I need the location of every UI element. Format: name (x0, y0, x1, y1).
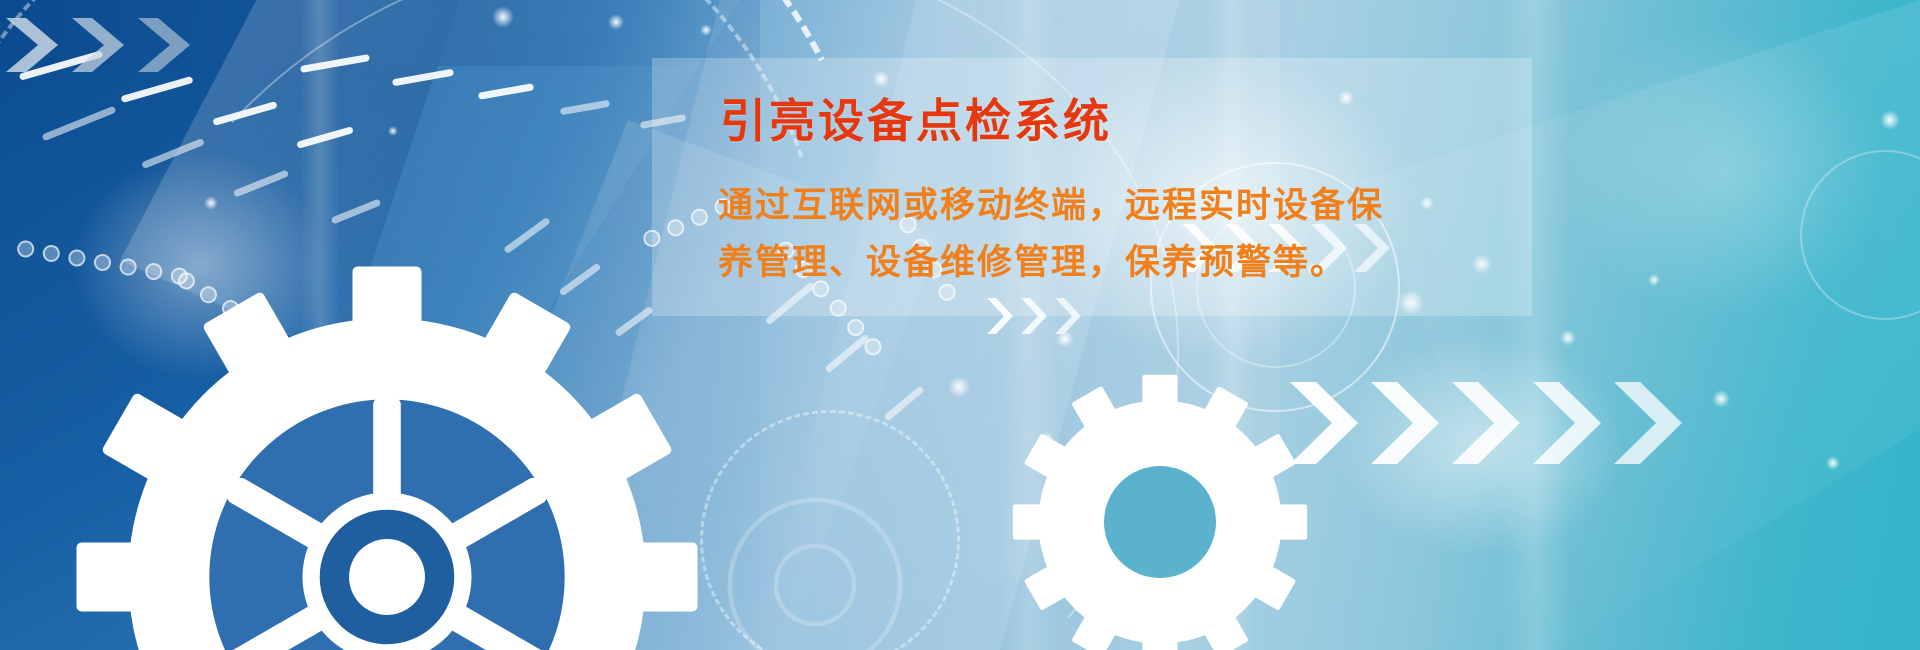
bokeh-dot (948, 376, 970, 398)
banner-subtitle-line-1: 通过互联网或移动终端，远程实时设备保 (718, 178, 1528, 235)
bokeh-dot (700, 24, 712, 36)
gear-icon (1000, 362, 1320, 650)
bokeh-dot (388, 126, 398, 136)
chevron-right-icon (136, 16, 196, 74)
bokeh-dot (1880, 110, 1900, 130)
bokeh-dot (608, 14, 624, 30)
banner-subtitle: 通过互联网或移动终端，远程实时设备保 养管理、设备维修管理，保养预警等。 (718, 178, 1528, 291)
chevron-right-icon (1450, 380, 1526, 466)
bokeh-dot (1826, 456, 1840, 470)
banner-subtitle-line-2: 养管理、设备维修管理，保养预警等。 (718, 235, 1528, 292)
bokeh-dot (1712, 390, 1730, 408)
bokeh-dot (1648, 274, 1660, 286)
chevron-group-top-left (4, 16, 196, 74)
gear-decoration-main (42, 232, 732, 650)
chevron-right-icon (4, 16, 64, 74)
chevron-right-icon (1612, 380, 1688, 466)
equipment-inspection-banner: 引亮设备点检系统 通过互联网或移动终端，远程实时设备保 养管理、设备维修管理，保… (0, 0, 1920, 650)
gear-decoration-small (1000, 362, 1320, 650)
chevron-right-icon (1369, 380, 1445, 466)
gear-decoration-ghost (700, 470, 930, 650)
bokeh-dot (1560, 330, 1576, 346)
chevron-group-bottom-right (1288, 380, 1688, 466)
chevron-right-icon (1531, 380, 1607, 466)
gear-icon (700, 470, 930, 650)
banner-title: 引亮设备点检系统 (720, 96, 1112, 147)
bokeh-dot (204, 196, 218, 210)
bokeh-dot (492, 6, 514, 28)
gear-icon (42, 232, 732, 650)
chevron-right-icon (70, 16, 130, 74)
